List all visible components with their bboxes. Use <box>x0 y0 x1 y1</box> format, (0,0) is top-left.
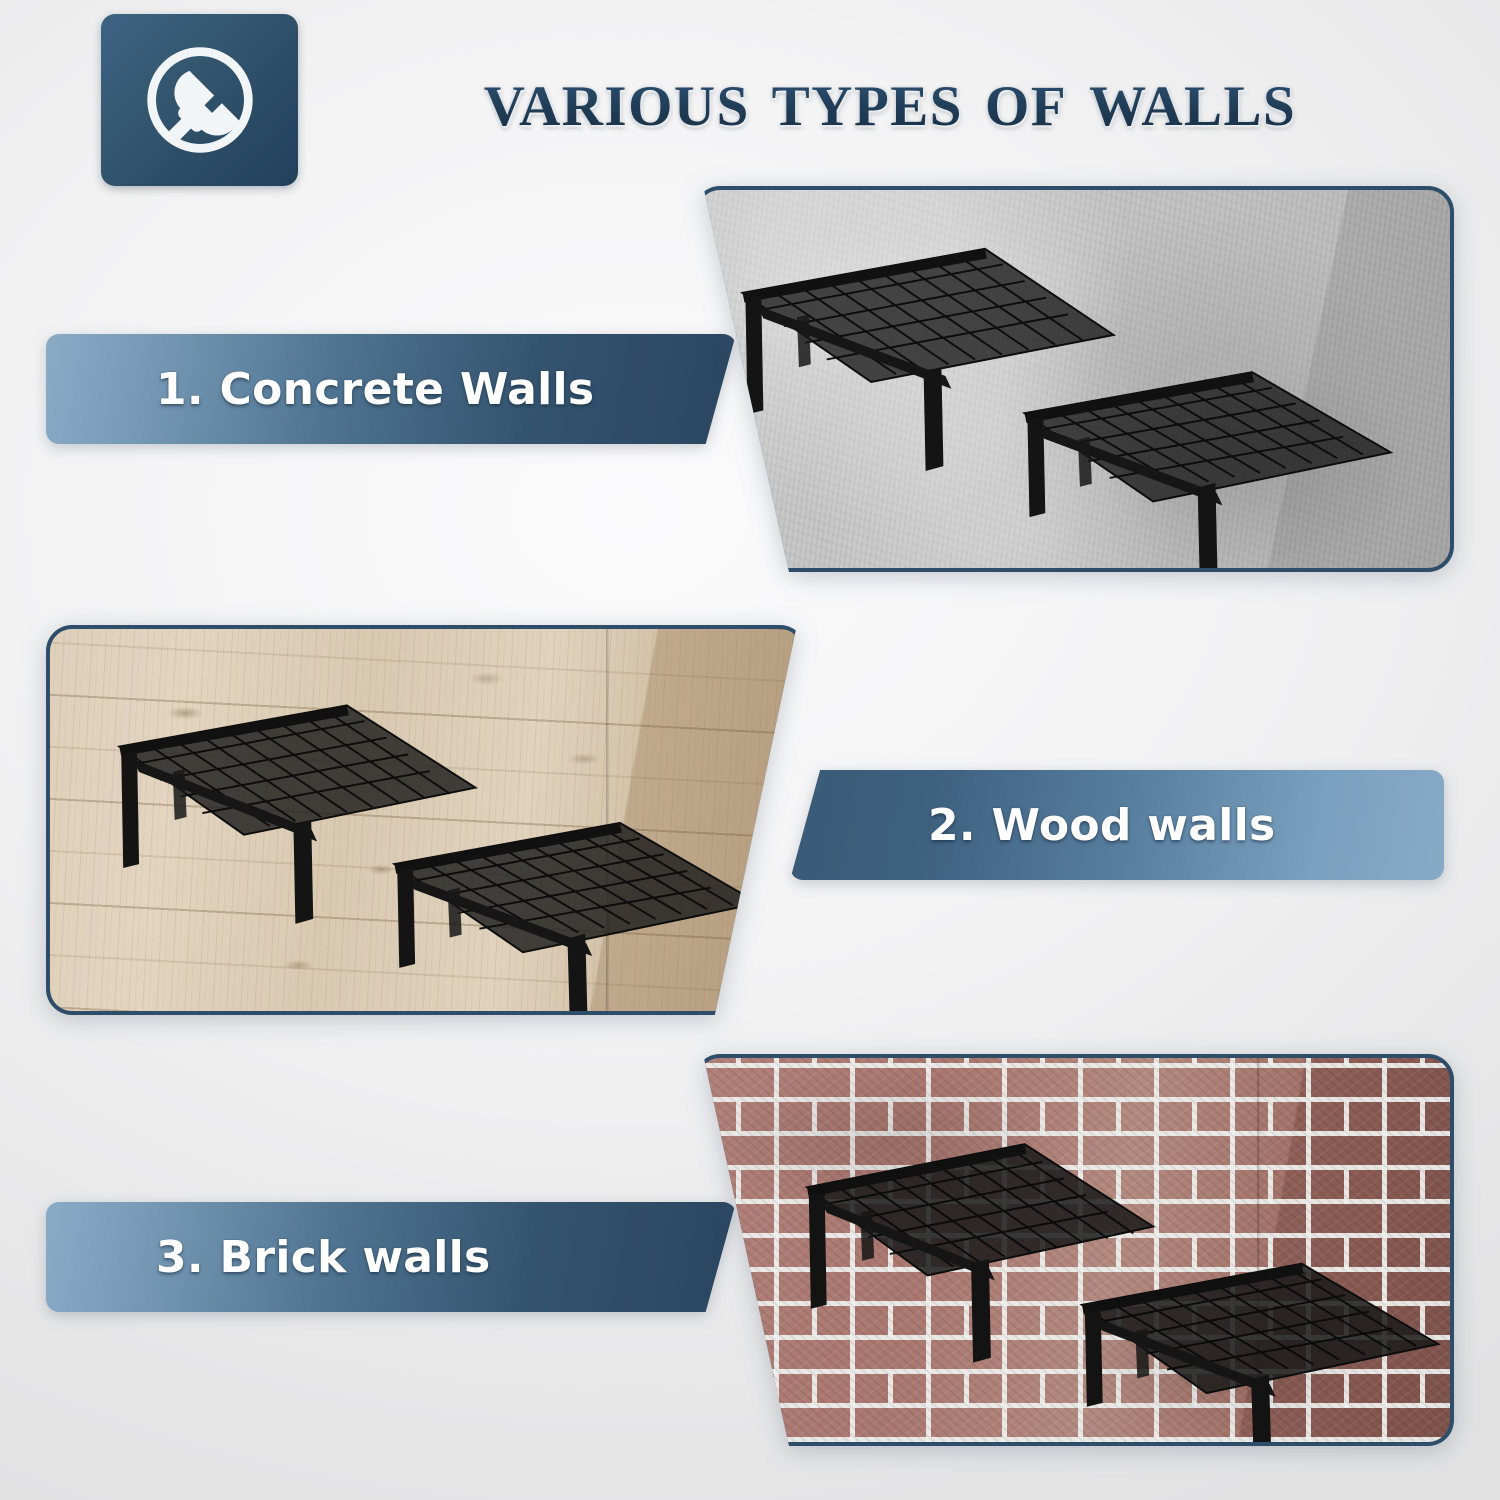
photo-panel-brick <box>694 1054 1454 1446</box>
wrench-in-circle-icon <box>138 38 262 162</box>
section-banner-concrete[interactable]: 1. Concrete Walls <box>46 334 736 444</box>
banner-label-concrete: 1. Concrete Walls <box>156 364 594 415</box>
section-banner-brick[interactable]: 3. Brick walls <box>46 1202 736 1312</box>
photo-inner <box>698 190 1450 568</box>
brick-wall-texture <box>698 1058 1450 1442</box>
photo-frame <box>694 186 1454 572</box>
photo-inner <box>698 1058 1450 1442</box>
photo-frame <box>694 1054 1454 1446</box>
banner-label-brick: 3. Brick walls <box>156 1232 491 1283</box>
page-title: Various Types of Walls <box>330 44 1450 152</box>
brand-logo-badge <box>101 14 298 186</box>
page-header: Various Types of Walls <box>0 0 1500 200</box>
wood-wall-texture <box>50 629 802 1011</box>
wall-corner-edge <box>1257 1058 1260 1442</box>
photo-frame <box>46 625 806 1015</box>
banner-label-wood: 2. Wood walls <box>928 800 1275 851</box>
photo-panel-wood <box>46 625 806 1015</box>
concrete-wall-texture <box>698 190 1450 568</box>
section-banner-wood[interactable]: 2. Wood walls <box>790 770 1444 880</box>
wall-corner-edge <box>606 629 609 1011</box>
photo-inner <box>50 629 802 1011</box>
photo-panel-concrete <box>694 186 1454 572</box>
